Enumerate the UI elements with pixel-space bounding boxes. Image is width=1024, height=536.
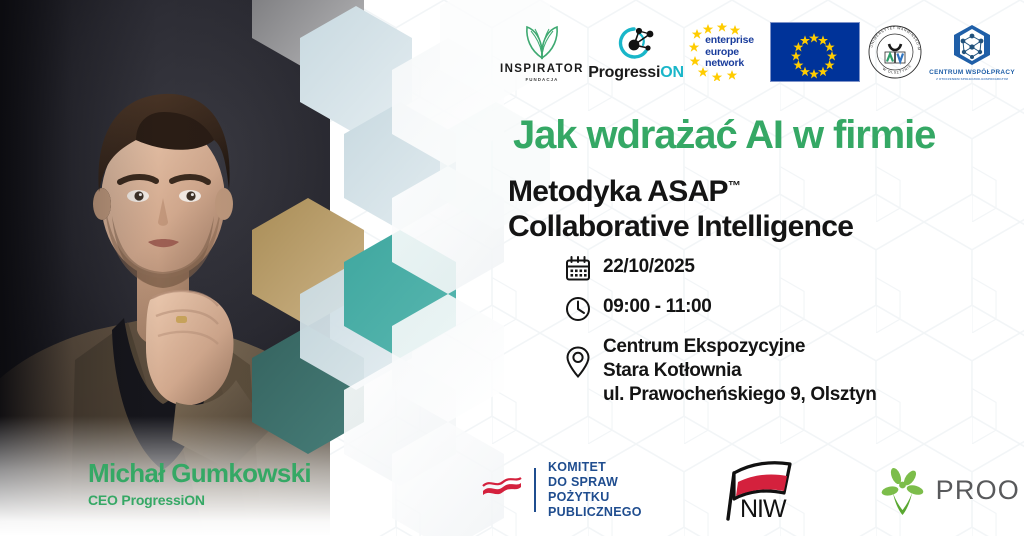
network-nodes-icon	[612, 23, 660, 63]
komitet-do-spraw-pozytku-publicznego-logo: KOMITET DO SPRAW POŻYTKU PUBLICZNEGO	[480, 460, 642, 520]
calendar-icon	[565, 256, 591, 282]
speaker-name: Michał Gumkowski	[88, 458, 311, 489]
svg-text:UNIWERSYTET WARMIŃSKO-MAZURSKI: UNIWERSYTET WARMIŃSKO-MAZURSKI	[865, 22, 921, 51]
hex-network-icon	[946, 23, 998, 67]
progression-logo: ProgressiON	[588, 23, 684, 82]
een-line-3: network	[705, 58, 754, 70]
event-details: 22/10/2025 09:00 - 11:00 Centrum Ekspozy…	[565, 255, 1005, 420]
enterprise-europe-network-logo: enterprise europe network	[688, 23, 766, 81]
niw-logo: NIW	[714, 455, 806, 525]
proo-logo: PROO	[879, 463, 1020, 517]
bottom-partner-logos: KOMITET DO SPRAW POŻYTKU PUBLICZNEGO NIW	[480, 452, 1020, 528]
centrum-wspolpracy-wordmark: CENTRUM WSPÓŁPRACY	[929, 69, 1015, 76]
university-seal-icon: UNIWERSYTET WARMIŃSKO-MAZURSKI W OLSZTYN…	[865, 22, 925, 82]
svg-text:NIW: NIW	[740, 495, 787, 523]
clock-icon-wrap	[565, 295, 603, 322]
location-pin-icon	[565, 346, 591, 378]
centrum-wspolpracy-logo: CENTRUM WSPÓŁPRACY Z OTOCZENIEM SPOŁECZN…	[929, 23, 1015, 81]
location-pin-icon-wrap	[565, 335, 603, 378]
event-date-row: 22/10/2025	[565, 255, 1005, 282]
progression-word-accent: ON	[660, 64, 684, 81]
speaker-role: CEO ProgressiON	[88, 492, 205, 508]
event-venue-text: Centrum Ekspozycyjne Stara Kotłownia ul.…	[603, 335, 877, 407]
university-warmia-mazury-seal: UNIWERSYTET WARMIŃSKO-MAZURSKI W OLSZTYN…	[865, 22, 925, 82]
event-banner: INSPIRATOR FUNDACJA ProgressiON	[0, 0, 1024, 536]
komitet-divider	[534, 468, 536, 512]
event-date-text: 22/10/2025	[603, 255, 695, 279]
komitet-line-3: POŻYTKU	[548, 490, 642, 505]
inspirator-logo: INSPIRATOR FUNDACJA	[500, 22, 584, 82]
venue-line-2: Stara Kotłownia	[603, 359, 877, 383]
polish-flag-outline-icon: NIW	[714, 455, 806, 525]
komitet-line-4: PUBLICZNEGO	[548, 505, 642, 520]
proo-wordmark: PROO	[936, 475, 1020, 506]
progression-wordmark: ProgressiON	[588, 64, 684, 82]
svg-text:W OLSZTYNIE: W OLSZTYNIE	[882, 63, 913, 74]
page-subtitle: Metodyka ASAP™ Collaborative Intelligenc…	[508, 168, 853, 244]
event-venue-row: Centrum Ekspozycyjne Stara Kotłownia ul.…	[565, 335, 1005, 407]
leaf-icon	[522, 22, 562, 60]
event-time-row: 09:00 - 11:00	[565, 295, 1005, 322]
komitet-line-2: DO SPRAW	[548, 475, 642, 490]
page-title: Jak wdrażać AI w firmie	[513, 112, 935, 158]
clock-icon	[565, 296, 591, 322]
venue-line-1: Centrum Ekspozycyjne	[603, 335, 877, 359]
komitet-wordmark: KOMITET DO SPRAW POŻYTKU PUBLICZNEGO	[548, 460, 642, 520]
komitet-line-1: KOMITET	[548, 460, 642, 475]
polish-flag-emblem-icon	[480, 474, 524, 506]
calendar-icon-wrap	[565, 255, 603, 282]
een-line-1: enterprise	[705, 35, 754, 47]
sprout-icon	[879, 463, 927, 517]
progression-word-main: Progressi	[588, 64, 660, 81]
event-time-text: 09:00 - 11:00	[603, 295, 711, 319]
een-wordmark: enterprise europe network	[705, 35, 754, 70]
centrum-wspolpracy-subtext: Z OTOCZENIEM SPOŁECZNO-GOSPODARCZYM	[936, 77, 1008, 81]
subtitle-methodology: Metodyka ASAP	[508, 175, 728, 208]
inspirator-wordmark: INSPIRATOR	[500, 63, 584, 75]
top-partner-logos: INSPIRATOR FUNDACJA ProgressiON	[500, 14, 1015, 90]
subtitle-line-1: Metodyka ASAP™	[508, 168, 853, 209]
subtitle-line-2: Collaborative Intelligence	[508, 209, 853, 244]
eu-flag-icon	[771, 23, 857, 79]
trademark-symbol: ™	[728, 178, 741, 193]
inspirator-subtext: FUNDACJA	[525, 77, 558, 82]
venue-line-3: ul. Prawocheńskiego 9, Olsztyn	[603, 383, 877, 407]
european-union-flag	[770, 22, 860, 82]
